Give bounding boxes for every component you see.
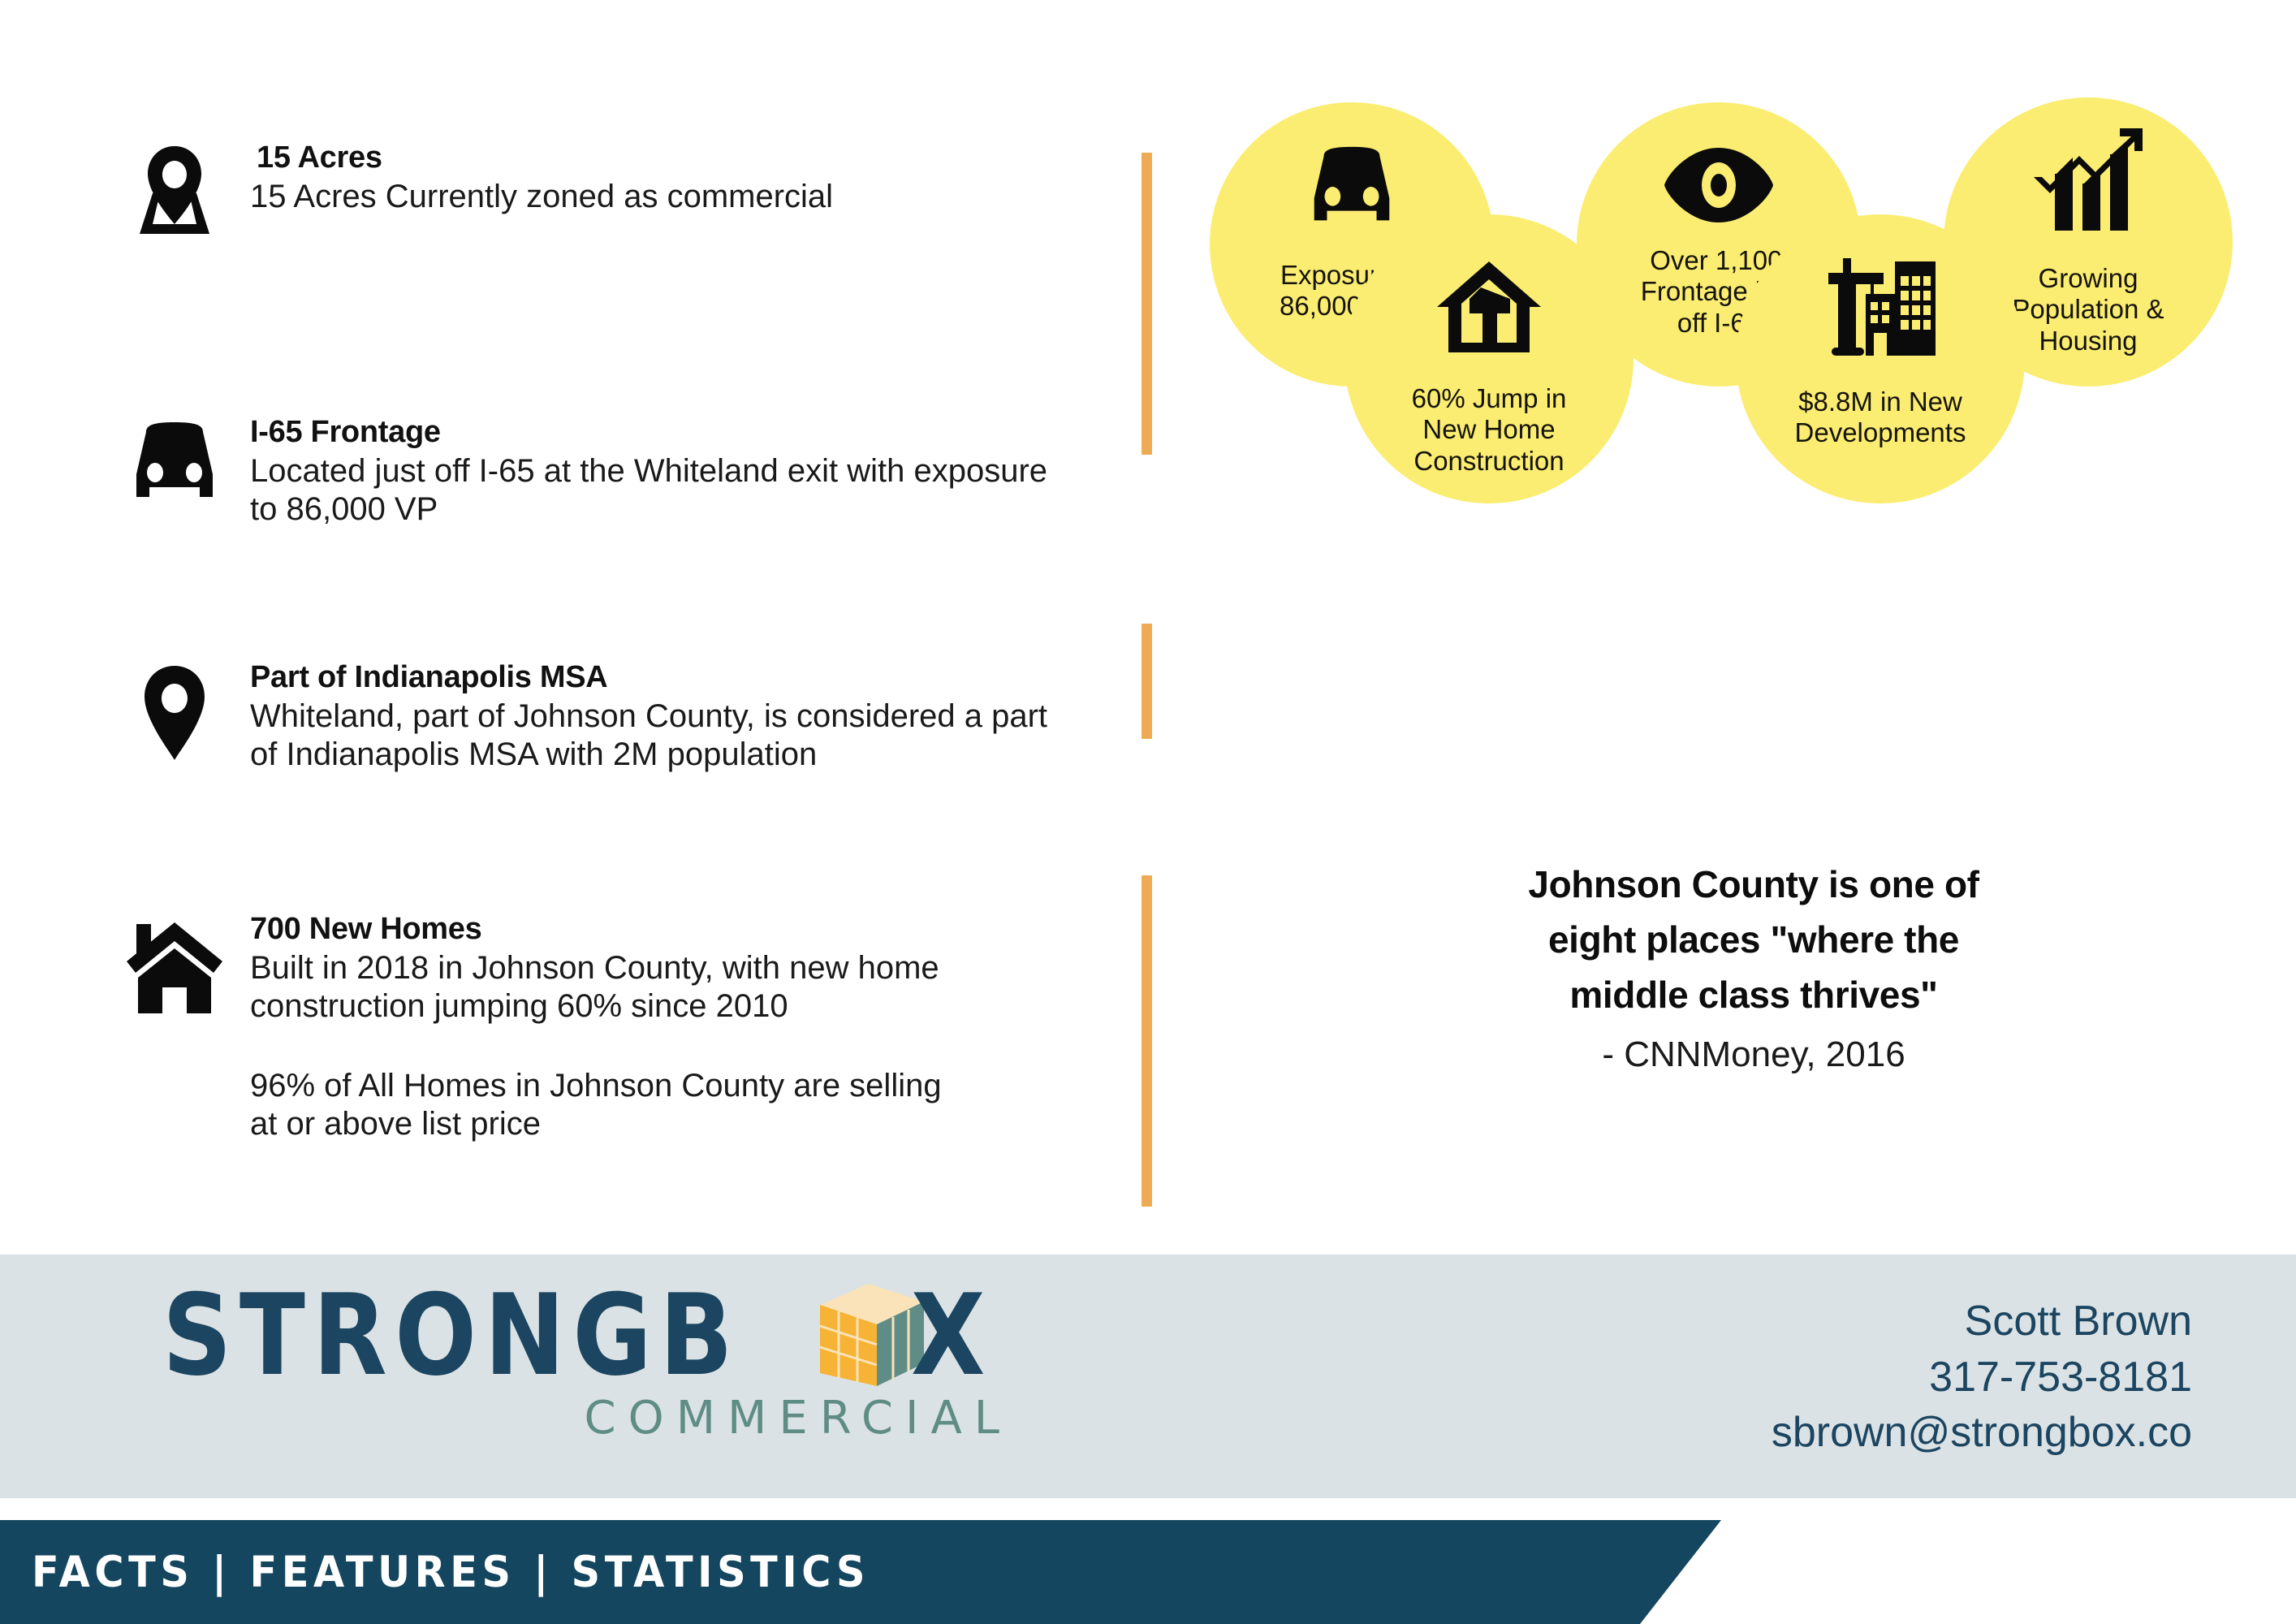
quote-line: eight places "where the: [1315, 912, 2192, 967]
fact-title: 15 Acres: [250, 140, 833, 176]
eye-visibility-icon: [1661, 143, 1776, 227]
car-front-icon: [1300, 141, 1404, 239]
fact-text-block: Part of Indianapolis MSA Whiteland, part…: [235, 659, 1072, 773]
fact-item-new-homes: 700 New Homes Built in 2018 in Johnson C…: [114, 911, 1072, 1143]
stat-bubble-label: $8.8M in New Developments: [1785, 387, 1976, 449]
stat-bubble-developments: $8.8M in New Developments: [1736, 214, 2025, 503]
divider-segment-middle: [1142, 624, 1152, 739]
fact-title: Part of Indianapolis MSA: [250, 659, 1072, 696]
bottom-banner: FACTS | FEATURES | STATISTICS: [0, 1520, 1721, 1624]
fact-item-frontage: I-65 Frontage Located just off I-65 at t…: [114, 414, 1072, 528]
stat-bubble-label: Growing Population & Housing: [2002, 263, 2173, 356]
fact-body: Located just off I-65 at the Whiteland e…: [250, 452, 1062, 529]
quote-line: middle class thrives": [1315, 967, 2192, 1022]
house-home-icon: [114, 911, 235, 1018]
fact-item-acres: 15 Acres 15 Acres Currently zoned as com…: [114, 140, 1072, 240]
fact-body-extra: 96% of All Homes in Johnson County are s…: [250, 1067, 965, 1143]
divider-segment-top: [1142, 153, 1152, 455]
quote-block: Johnson County is one of eight places "w…: [1315, 857, 2192, 1077]
contact-email[interactable]: sbrown@strongbox.co: [1772, 1405, 2192, 1461]
footer-bar: STRONGB: [0, 1255, 2296, 1498]
contact-phone[interactable]: 317-753-8181: [1772, 1350, 2192, 1406]
contact-block: Scott Brown 317-753-8181 sbrown@strongbo…: [1772, 1294, 2192, 1461]
fact-text-block: I-65 Frontage Located just off I-65 at t…: [235, 414, 1062, 528]
facts-list: 15 Acres 15 Acres Currently zoned as com…: [0, 0, 1137, 1250]
quote-line: Johnson County is one of: [1315, 857, 2192, 912]
fact-text-block: 15 Acres 15 Acres Currently zoned as com…: [235, 140, 833, 216]
fact-title: 700 New Homes: [250, 911, 965, 948]
logo-word-strongb: STRONGB: [162, 1280, 740, 1392]
contact-name: Scott Brown: [1772, 1294, 2192, 1350]
quote-attribution: - CNNMoney, 2016: [1315, 1034, 2192, 1077]
fact-item-msa: Part of Indianapolis MSA Whiteland, part…: [114, 659, 1072, 773]
fact-body: Built in 2018 in Johnson County, with ne…: [250, 949, 965, 1026]
fact-text-block: 700 New Homes Built in 2018 in Johnson C…: [235, 911, 965, 1143]
stat-bubble-home-construction: 60% Jump in New Home Construction: [1344, 214, 1634, 503]
banner-title: FACTS | FEATURES | STATISTICS: [0, 1548, 870, 1597]
house-hammer-icon: [1432, 255, 1546, 362]
construction-crane-buildings-icon: [1820, 252, 1940, 362]
growth-bar-chart-icon: [2029, 125, 2147, 239]
car-front-icon: [114, 414, 235, 515]
fact-title: I-65 Frontage: [250, 414, 1062, 451]
logo-word-x: X: [911, 1280, 993, 1392]
divider-segment-bottom: [1142, 875, 1152, 1207]
stat-bubble-label: 60% Jump in New Home Construction: [1402, 383, 1577, 477]
fact-body: Whiteland, part of Johnson County, is co…: [250, 698, 1072, 774]
logo-wordmark: STRONGB: [162, 1283, 1023, 1389]
map-marker-pin-icon: [114, 659, 235, 768]
map-pin-location-icon: [114, 140, 235, 240]
strongbox-logo: STRONGB: [162, 1283, 1023, 1445]
fact-body: 15 Acres Currently zoned as commercial: [250, 178, 833, 216]
stat-bubbles-group: Exposure to 86,000 VPD Over 1,100' Front…: [1193, 81, 2273, 666]
